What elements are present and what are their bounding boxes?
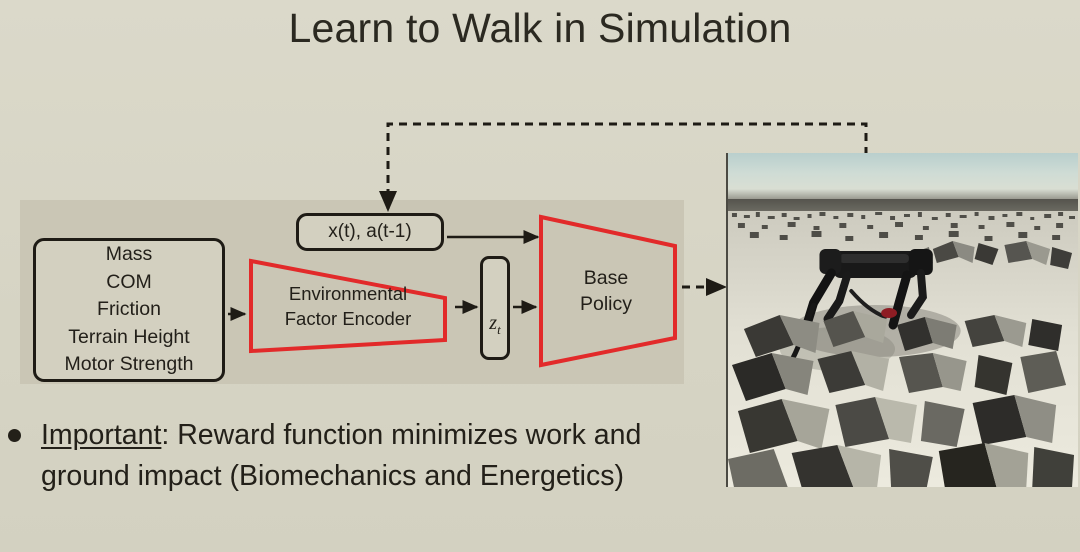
bullet-text: Important: Reward function minimizes wor…: [41, 415, 661, 497]
latent-vector-box: [480, 256, 510, 360]
observation-history-box: [296, 213, 444, 251]
base-policy-shape: [538, 214, 678, 368]
environment-parameters-box: [33, 238, 225, 382]
simulation-render: [728, 153, 1078, 487]
environmental-factor-encoder-shape: [248, 258, 448, 354]
simulation-viewport: [726, 153, 1078, 487]
bullet-dot-icon: [8, 429, 21, 442]
slide-canvas: Learn to Walk in Simulation Mass COM Fr: [0, 0, 1080, 552]
bullet-emphasis: Important: [41, 419, 161, 451]
